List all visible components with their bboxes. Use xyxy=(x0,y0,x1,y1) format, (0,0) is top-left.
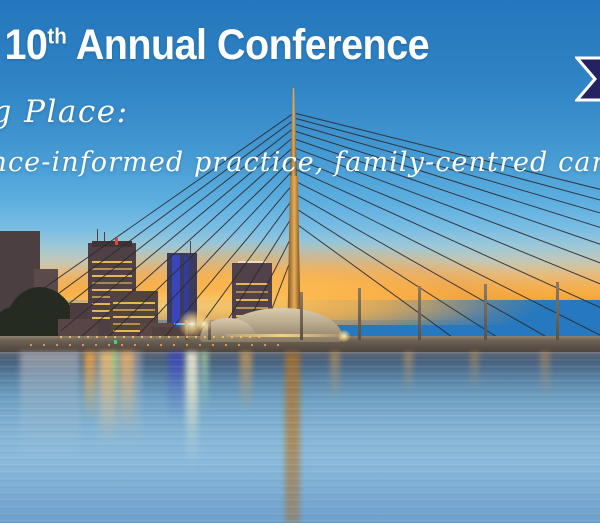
tower-roof-light xyxy=(115,238,118,245)
chevron-shape xyxy=(577,58,600,100)
road-lights xyxy=(60,336,260,338)
headline-ordinal-suffix: th xyxy=(47,24,66,49)
window-row xyxy=(236,283,268,285)
chevron-logo-icon xyxy=(575,56,600,102)
page-title: N 10th Annual Conference xyxy=(0,24,429,67)
conference-banner: N 10th Annual Conference ng Place: dence… xyxy=(0,0,600,523)
street-lamp xyxy=(418,286,421,340)
headline-post: Annual Conference xyxy=(67,21,429,69)
organization-logo[interactable] xyxy=(575,56,600,102)
taking-place-label: ng Place: xyxy=(0,94,129,130)
street-lamp xyxy=(358,288,361,340)
conference-subtitle: dence-informed practice, family-centred … xyxy=(0,147,600,178)
street-lamp xyxy=(556,282,559,340)
window-row xyxy=(92,282,132,284)
antenna-a xyxy=(97,229,98,241)
road-lights-low xyxy=(30,344,280,346)
lamp-glow xyxy=(337,330,351,342)
signal-green xyxy=(114,340,117,344)
blue-tower-antenna xyxy=(190,241,191,253)
headline-pre: N 10 xyxy=(0,21,47,69)
street-lamp xyxy=(300,292,303,340)
window-row xyxy=(113,316,155,318)
street-lamp xyxy=(484,284,487,340)
antenna-b xyxy=(104,232,105,241)
water-vignette xyxy=(0,440,600,523)
lamp-glow xyxy=(196,316,212,332)
